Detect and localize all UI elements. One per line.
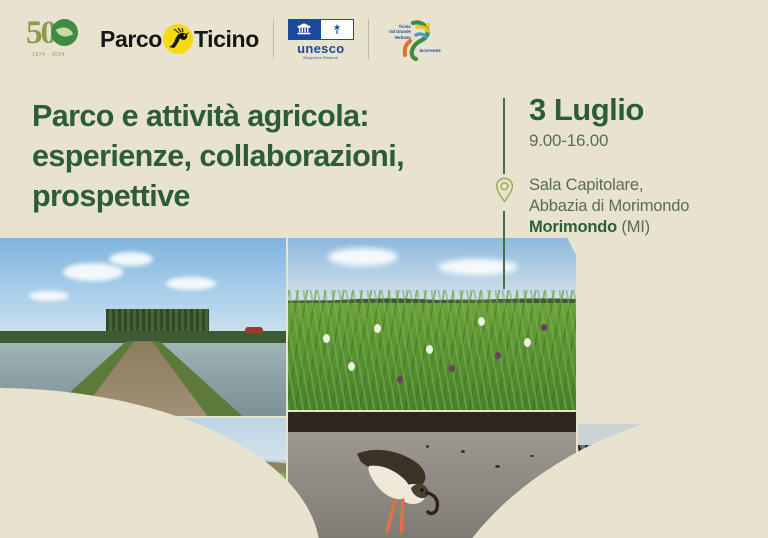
heron-badge-icon (163, 24, 193, 54)
event-poster: 50 1974 - 2024 Parco Ticino (0, 0, 768, 538)
unesco-temple-block (288, 19, 320, 40)
event-time: 9.00-16.00 (529, 129, 753, 153)
unesco-temple-icon (288, 19, 354, 40)
event-venue: Sala Capitolare, Abbazia di Morimondo Mo… (529, 175, 753, 238)
event-date: 3 Luglio (529, 93, 753, 127)
photo-collage (0, 238, 768, 538)
cloud-shape (438, 259, 518, 275)
mud-speck (530, 455, 534, 457)
brand-word-right: Ticino (194, 28, 259, 51)
logo-divider-1 (273, 19, 274, 59)
title-line-1: Parco e attività agricola: (32, 99, 369, 133)
leaf-disc-icon (51, 19, 78, 46)
white-flower (524, 338, 531, 347)
anniversary-years: 1974 - 2024 (32, 52, 65, 58)
cloud-shape (63, 263, 123, 281)
unesco-emblem-block (320, 19, 354, 40)
venue-province: (MI) (621, 218, 650, 236)
venue-city: Morimondo (529, 218, 617, 236)
venue-city-line: Morimondo (MI) (529, 217, 753, 238)
white-flower (426, 345, 433, 354)
mab-region-text: Ticino Val Grande Verbano (385, 24, 411, 40)
event-info-text: 3 Luglio 9.00-16.00 Sala Capitolare, Abb… (529, 93, 753, 238)
parco-ticino-logo: Parco Ticino (100, 24, 259, 54)
logo-bar: 50 1974 - 2024 Parco Ticino (0, 0, 768, 78)
title-line-3: prospettive (32, 179, 190, 213)
unesco-logo: unesco Biosphere Reserve (288, 19, 354, 60)
brand-word-left: Parco (100, 28, 162, 51)
venue-line-1: Sala Capitolare, (529, 175, 753, 196)
event-info: 3 Luglio 9.00-16.00 Sala Capitolare, Abb… (503, 93, 753, 238)
poster-title: Parco e attività agricola: esperienze, c… (32, 96, 484, 216)
map-pin-icon (495, 177, 514, 203)
anniversary-50-logo: 50 1974 - 2024 (26, 16, 88, 62)
info-rule-top (503, 98, 505, 174)
unesco-wordmark: unesco (288, 42, 354, 55)
red-bush (245, 327, 263, 334)
logo-divider-2 (368, 19, 369, 59)
info-rule-bottom (503, 211, 505, 289)
venue-line-2: Abbazia di Morimondo (529, 196, 753, 217)
purple-flower (495, 352, 501, 359)
unesco-subtitle: Biosphere Reserve (288, 56, 354, 60)
mab-biosphere-logo: Ticino Val Grande Verbano BIOSPHERE (383, 17, 441, 61)
mab-biosphere-label: BIOSPHERE (420, 49, 441, 53)
black-winged-stilt-icon (351, 440, 479, 536)
photo-flower-meadow (288, 238, 576, 410)
white-flower (323, 334, 330, 343)
title-line-2: esperienze, collaborazioni, (32, 139, 404, 173)
page-title: Parco e attività agricola: esperienze, c… (32, 96, 484, 216)
